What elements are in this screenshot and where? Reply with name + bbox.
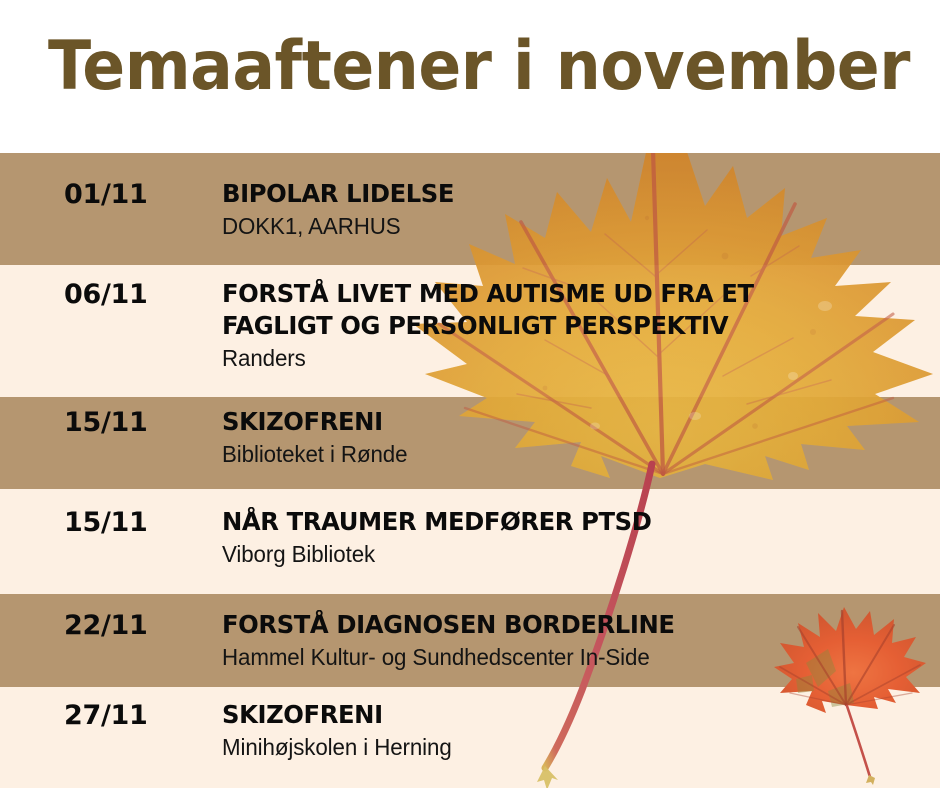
row-body: NÅR TRAUMER MEDFØRER PTSD Viborg Bibliot… (222, 506, 930, 569)
row-title-line: FORSTÅ DIAGNOSEN BORDERLINE (222, 609, 909, 641)
row-title-line: NÅR TRAUMER MEDFØRER PTSD (222, 506, 909, 538)
row-date: 27/11 (64, 701, 148, 731)
row-body: FORSTÅ LIVET MED AUTISME UD FRA ET FAGLI… (222, 278, 930, 373)
row-venue: Viborg Bibliotek (222, 539, 909, 569)
row-venue: Biblioteket i Rønde (222, 439, 909, 469)
poster-canvas: Temaaftener i november 01/11 BIPOLAR LID… (0, 0, 940, 788)
row-date: 15/11 (64, 508, 148, 538)
row-date: 06/11 (64, 280, 148, 310)
row-venue: Randers (222, 343, 909, 373)
row-date: 01/11 (64, 180, 148, 210)
row-title-line: BIPOLAR LIDELSE (222, 178, 909, 210)
row-title-line: FAGLIGT OG PERSONLIGT PERSPEKTIV (222, 310, 909, 342)
row-venue: Hammel Kultur- og Sundhedscenter In-Side (222, 642, 909, 672)
row-title-line: SKIZOFRENI (222, 406, 909, 438)
row-title-line: FORSTÅ LIVET MED AUTISME UD FRA ET (222, 278, 909, 310)
row-venue: Minihøjskolen i Herning (222, 732, 909, 762)
row-date: 15/11 (64, 408, 148, 438)
row-body: SKIZOFRENI Minihøjskolen i Herning (222, 699, 930, 762)
row-body: BIPOLAR LIDELSE DOKK1, AARHUS (222, 178, 930, 241)
header-band: Temaaftener i november (0, 0, 940, 153)
row-body: FORSTÅ DIAGNOSEN BORDERLINE Hammel Kultu… (222, 609, 930, 672)
page-title: Temaaftener i november (48, 24, 910, 110)
row-venue: DOKK1, AARHUS (222, 211, 909, 241)
row-date: 22/11 (64, 611, 148, 641)
row-title-line: SKIZOFRENI (222, 699, 909, 731)
row-body: SKIZOFRENI Biblioteket i Rønde (222, 406, 930, 469)
